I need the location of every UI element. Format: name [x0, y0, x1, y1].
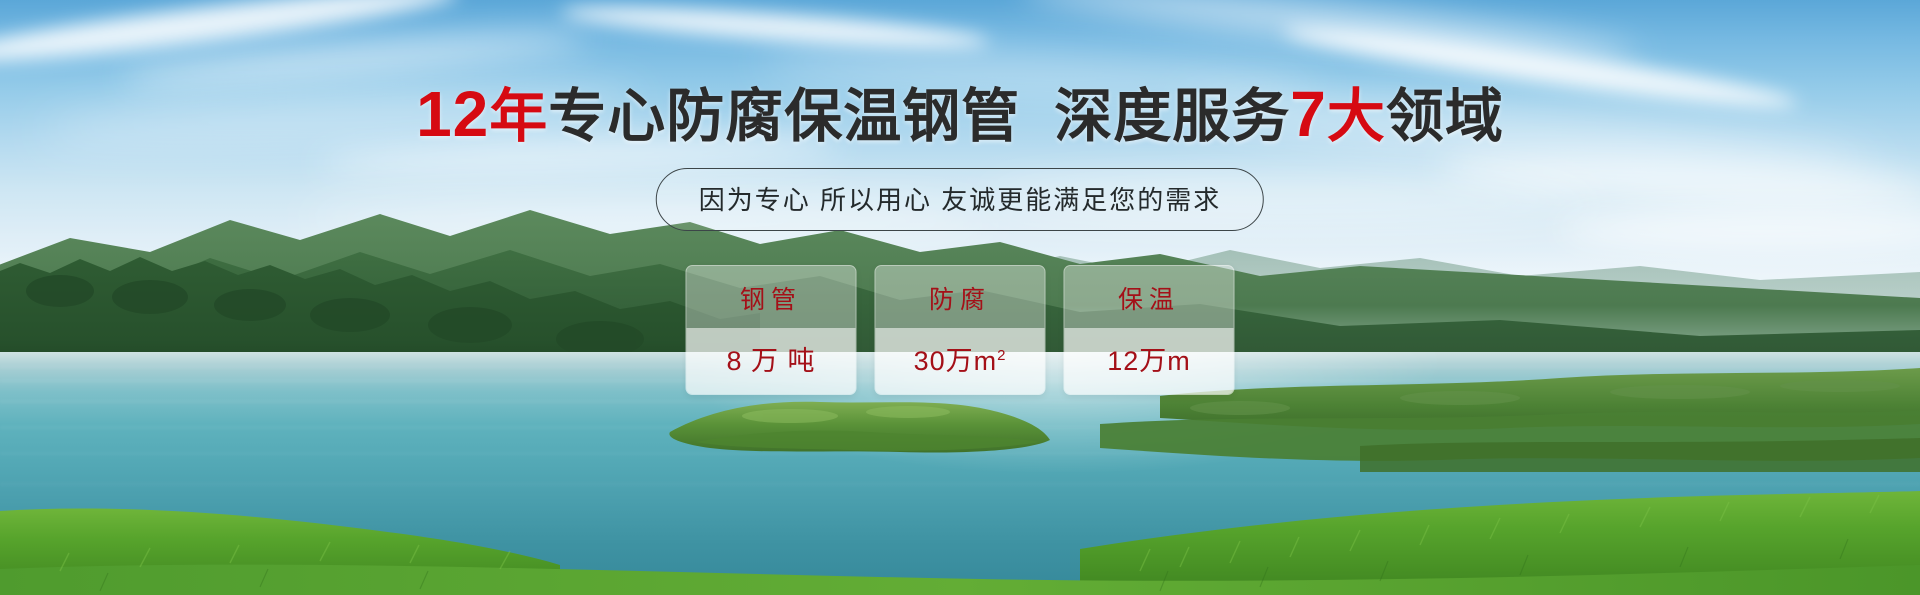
banner-headline: 12年专心防腐保温钢管深度服务7大领域 — [0, 82, 1920, 146]
stat-card-label: 防腐 — [876, 266, 1045, 328]
stat-card-label: 保温 — [1065, 266, 1234, 328]
stat-card-value: 12万m — [1065, 328, 1234, 394]
headline-service-text: 深度服务 — [1054, 84, 1290, 149]
headline-fields-unit: 大 — [1327, 84, 1386, 149]
banner-content: 12年专心防腐保温钢管深度服务7大领域 因为专心 所以用心 友诚更能满足您的需求… — [0, 0, 1920, 595]
stat-card-value-superscript: 2 — [997, 347, 1006, 364]
stat-card-value: 30万m2 — [876, 328, 1045, 394]
headline-years-unit: 年 — [489, 84, 548, 149]
headline-main-text: 专心防腐保温钢管 — [548, 84, 1020, 149]
stat-card-value-text: 12万m — [1107, 346, 1191, 376]
stat-card-value-text: 30万m — [914, 346, 998, 376]
headline-fields-text: 领域 — [1386, 84, 1504, 149]
headline-years-number: 12 — [416, 78, 489, 150]
subtitle-pill: 因为专心 所以用心 友诚更能满足您的需求 — [656, 168, 1264, 231]
stat-card[interactable]: 钢管 8 万 吨 — [686, 265, 857, 395]
stat-card[interactable]: 防腐 30万m2 — [875, 265, 1046, 395]
headline-fields-number: 7 — [1290, 78, 1327, 150]
stat-card-value: 8 万 吨 — [687, 328, 856, 394]
stat-card-value-text: 8 万 吨 — [726, 346, 815, 376]
stat-cards: 钢管 8 万 吨 防腐 30万m2 保温 12万m — [686, 265, 1235, 395]
hero-banner: 12年专心防腐保温钢管深度服务7大领域 因为专心 所以用心 友诚更能满足您的需求… — [0, 0, 1920, 595]
stat-card[interactable]: 保温 12万m — [1064, 265, 1235, 395]
stat-card-label: 钢管 — [687, 266, 856, 328]
